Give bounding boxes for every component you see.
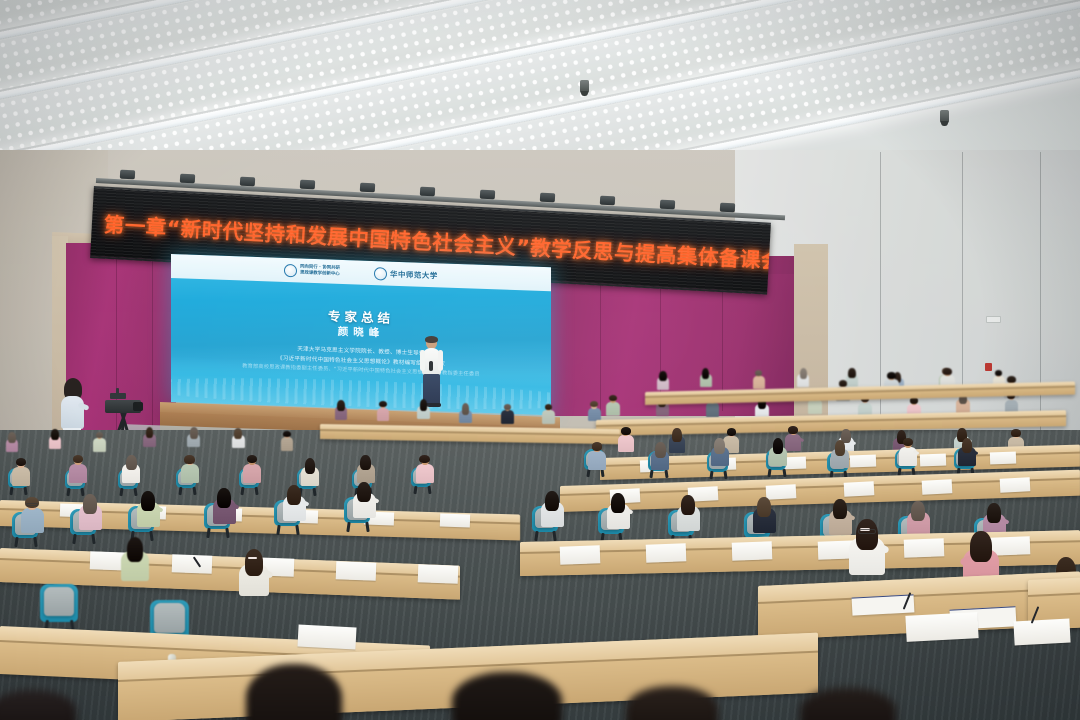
attendee-hair xyxy=(217,488,231,508)
attendee xyxy=(120,536,150,580)
notebook-page xyxy=(990,452,1016,465)
attendee xyxy=(906,500,930,536)
attendee xyxy=(180,455,199,483)
chair-leg xyxy=(178,487,182,495)
attendee xyxy=(356,454,375,482)
projection-screen: 同向同行 · 协同共研 思政课教学创新中心 华中师范大学 专家总结 颜晓峰 天津… xyxy=(171,254,551,415)
attendee xyxy=(676,494,700,530)
attendee xyxy=(540,490,564,526)
attendee-hair xyxy=(702,368,709,379)
attendee-hair xyxy=(943,368,951,375)
attendee xyxy=(136,490,160,526)
attendee-hair xyxy=(592,442,603,450)
attendee-torso xyxy=(12,467,30,486)
attendee xyxy=(93,432,107,452)
chair-leg xyxy=(207,528,211,538)
attendee-hair xyxy=(903,438,914,446)
attendee-hair xyxy=(420,399,428,410)
attendee-hair xyxy=(773,438,784,454)
attendee-hair xyxy=(462,403,470,414)
attendee-hair xyxy=(360,455,371,471)
stage-light xyxy=(660,199,675,209)
chair-leg xyxy=(650,470,654,478)
attendee-hair xyxy=(126,455,137,471)
foreground-head xyxy=(246,664,342,720)
attendee-hair xyxy=(146,427,154,438)
attendee-hair xyxy=(127,537,144,562)
attendee-torso xyxy=(706,402,719,416)
chair-leg xyxy=(782,469,786,477)
chair-leg xyxy=(664,470,668,478)
attendee-hair xyxy=(970,531,991,562)
chair-leg xyxy=(120,488,124,496)
attendee xyxy=(848,518,886,574)
chair-leg xyxy=(33,537,37,547)
chair-leg xyxy=(225,528,229,538)
attendee-hair xyxy=(545,491,559,511)
attendee-hair xyxy=(788,426,798,434)
camera-lens-icon xyxy=(133,402,143,411)
attendee-hair xyxy=(545,404,553,410)
stage-light xyxy=(420,186,435,196)
attendee-hair xyxy=(287,485,301,505)
attendee xyxy=(797,368,810,387)
attendee-torso xyxy=(808,399,821,413)
attendee-hair xyxy=(83,494,97,514)
lecture-hall-photo: 第一章“新时代坚持和发展中国特色社会主义”教学反思与提高集体备课会 同向同行 ·… xyxy=(0,0,1080,720)
attendee xyxy=(752,496,776,532)
notebook-page xyxy=(850,455,876,468)
panel-seam xyxy=(880,152,881,452)
glasses-icon xyxy=(26,503,38,506)
chair-leg xyxy=(347,522,351,532)
presenter-hair xyxy=(425,336,438,343)
attendee xyxy=(48,429,62,449)
attendee-hair xyxy=(714,438,725,454)
chair-cushion xyxy=(44,587,74,616)
attendee xyxy=(606,492,630,528)
chair-leg xyxy=(427,486,431,494)
attendee-hair xyxy=(16,458,27,466)
attendee-hair xyxy=(911,501,925,521)
attendee-hair xyxy=(611,493,625,513)
chair-leg xyxy=(365,522,369,532)
ceiling-spotlight xyxy=(580,80,589,93)
attendee-hair xyxy=(621,427,631,435)
chair-leg xyxy=(553,530,557,540)
attendee-torso xyxy=(606,402,619,416)
attendee xyxy=(69,454,88,482)
camera-mic-icon xyxy=(116,388,119,395)
stage-light xyxy=(480,189,495,199)
attendee-hair xyxy=(655,442,666,458)
stage-light xyxy=(360,183,375,193)
glasses-icon xyxy=(858,529,876,533)
chair-leg xyxy=(709,471,713,479)
chair-leg xyxy=(724,471,728,479)
attendee xyxy=(122,454,141,482)
attendee xyxy=(752,370,765,389)
attendee-hair xyxy=(96,432,104,438)
chair-leg xyxy=(91,534,95,544)
attendee xyxy=(830,439,849,467)
attendee xyxy=(459,403,473,423)
attendee xyxy=(542,404,556,424)
attendee-hair xyxy=(987,503,1001,523)
notebook-page xyxy=(440,513,470,527)
attendee-hair xyxy=(659,371,666,382)
attendee-hair xyxy=(681,495,695,515)
stage-light xyxy=(240,176,255,186)
attendee-torso xyxy=(416,464,434,483)
microphone-icon xyxy=(429,361,433,371)
attendee-hair xyxy=(357,482,371,502)
stage-light xyxy=(120,170,135,180)
chair-leg xyxy=(24,487,28,495)
notebook-page xyxy=(844,482,875,498)
attendee-hair xyxy=(727,428,737,436)
attendee xyxy=(376,401,390,421)
foreground-head xyxy=(452,672,562,720)
attendee-hair xyxy=(283,431,291,437)
notebook-page xyxy=(418,564,459,583)
attendee xyxy=(669,428,686,453)
attendee xyxy=(301,458,320,486)
attendee xyxy=(187,427,201,447)
attendee xyxy=(280,430,294,450)
attendee-torso xyxy=(21,508,44,532)
attendee-torso xyxy=(618,435,634,452)
stage-light xyxy=(720,202,735,212)
attendee-hair xyxy=(1011,429,1021,437)
attendee xyxy=(243,454,262,482)
chair-leg xyxy=(192,487,196,495)
presenter-arm-right xyxy=(438,350,443,371)
notebook-page xyxy=(560,545,601,564)
chair-leg xyxy=(73,534,77,544)
attendee xyxy=(334,399,348,419)
ceiling-spotlight xyxy=(940,110,949,123)
attendee xyxy=(415,454,434,482)
wall-socket-icon xyxy=(986,316,1001,323)
attendee xyxy=(352,481,376,517)
stage-light xyxy=(600,196,615,206)
operator-top xyxy=(61,396,84,429)
attendee-hair xyxy=(379,401,387,407)
attendee-hair xyxy=(190,427,198,438)
attendee-torso xyxy=(753,376,765,389)
university-logo-mark xyxy=(374,267,387,280)
attendee-hair xyxy=(757,497,771,517)
attendee-torso xyxy=(69,464,87,483)
chair-leg xyxy=(277,525,281,535)
attendee xyxy=(20,496,44,532)
notebook-page xyxy=(336,561,377,580)
chair-leg xyxy=(15,537,19,547)
attendee xyxy=(212,487,236,523)
attendee xyxy=(78,493,102,529)
attendee xyxy=(238,548,270,596)
attendee-hair xyxy=(839,380,847,386)
attendee xyxy=(710,438,729,466)
notebook-page xyxy=(922,479,953,495)
attendee xyxy=(769,437,788,465)
attendee-hair xyxy=(234,428,242,439)
notebook-page xyxy=(1013,619,1070,646)
attendee-torso xyxy=(281,437,294,451)
attendee xyxy=(651,441,670,469)
attendee-hair xyxy=(856,519,877,550)
attendee-hair xyxy=(305,458,316,474)
attendee-hair xyxy=(835,440,846,456)
attendee-hair xyxy=(247,455,258,463)
attendee-hair xyxy=(590,401,598,407)
attendee xyxy=(587,401,601,421)
stage-light xyxy=(540,193,555,203)
attendee-hair xyxy=(848,368,855,379)
chair-leg xyxy=(768,469,772,477)
chair-leg xyxy=(586,469,590,477)
attendee xyxy=(417,399,431,419)
chair-leg xyxy=(295,525,299,535)
stage-light xyxy=(180,173,195,183)
attendee-hair xyxy=(8,432,16,443)
chair-cushion xyxy=(154,603,185,633)
university-logo-text: 华中师范大学 xyxy=(390,268,438,281)
attendee-torso xyxy=(93,438,106,452)
attendee-torso xyxy=(542,410,555,424)
notebook-page xyxy=(1000,477,1031,493)
attendee xyxy=(898,437,917,465)
attendee-hair xyxy=(887,372,895,379)
partner-logo-mark xyxy=(284,263,297,276)
attendee-torso xyxy=(501,410,514,424)
attendee-torso xyxy=(588,451,606,470)
attendee-hair xyxy=(141,491,155,511)
notebook-page xyxy=(905,612,978,642)
attendee-torso xyxy=(243,464,261,483)
notebook-page xyxy=(297,624,356,649)
hair-clip-icon xyxy=(248,557,257,559)
attendee-hair xyxy=(245,549,263,576)
chair-leg xyxy=(255,487,259,495)
attendee xyxy=(12,457,31,485)
attendee-hair xyxy=(833,499,847,519)
notebook-page xyxy=(732,542,773,561)
attendee-hair xyxy=(184,455,195,463)
attendee-hair xyxy=(800,368,807,379)
attendee xyxy=(606,395,620,416)
stage-light xyxy=(300,180,315,190)
attendee xyxy=(657,370,670,389)
attendee xyxy=(143,427,157,447)
wall-seam xyxy=(152,243,153,443)
attendee xyxy=(957,437,976,465)
chair-leg xyxy=(241,487,245,495)
attendee xyxy=(282,484,306,520)
attendee-hair xyxy=(672,428,682,442)
attendee xyxy=(617,427,634,452)
partner-logo: 同向同行 · 协同共研 思政课教学创新中心 xyxy=(284,263,340,278)
attendee-hair xyxy=(995,370,1002,376)
attendee-hair xyxy=(504,404,512,410)
attendee-torso xyxy=(377,408,390,422)
fire-alarm-icon xyxy=(985,363,992,371)
notebook-page xyxy=(646,543,687,562)
chair[interactable] xyxy=(40,584,78,633)
presenter xyxy=(418,337,444,407)
notebook-page xyxy=(920,453,946,466)
panel-seam xyxy=(1040,152,1041,452)
presenter-arm-left xyxy=(420,350,425,371)
attendee-torso xyxy=(181,464,199,483)
attendee-hair xyxy=(962,438,973,454)
chair-leg xyxy=(67,488,71,496)
attendee-hair xyxy=(51,429,59,440)
chair-leg xyxy=(413,486,417,494)
university-logo: 华中师范大学 xyxy=(374,267,438,282)
attendee xyxy=(5,432,19,452)
attendee xyxy=(231,428,245,448)
partner-logo-line2: 思政课教学创新中心 xyxy=(300,271,340,278)
attendee-hair xyxy=(419,455,430,463)
notebook-page xyxy=(904,538,945,557)
attendee-hair xyxy=(73,455,84,463)
chair-leg xyxy=(10,487,14,495)
chair-leg xyxy=(313,487,317,495)
attendee-hair xyxy=(337,400,345,411)
attendee-hair xyxy=(755,370,762,376)
attendee xyxy=(699,368,712,387)
attendee xyxy=(501,403,515,423)
attendee xyxy=(587,442,606,470)
chair-leg xyxy=(601,469,605,477)
chair-leg xyxy=(535,530,539,540)
